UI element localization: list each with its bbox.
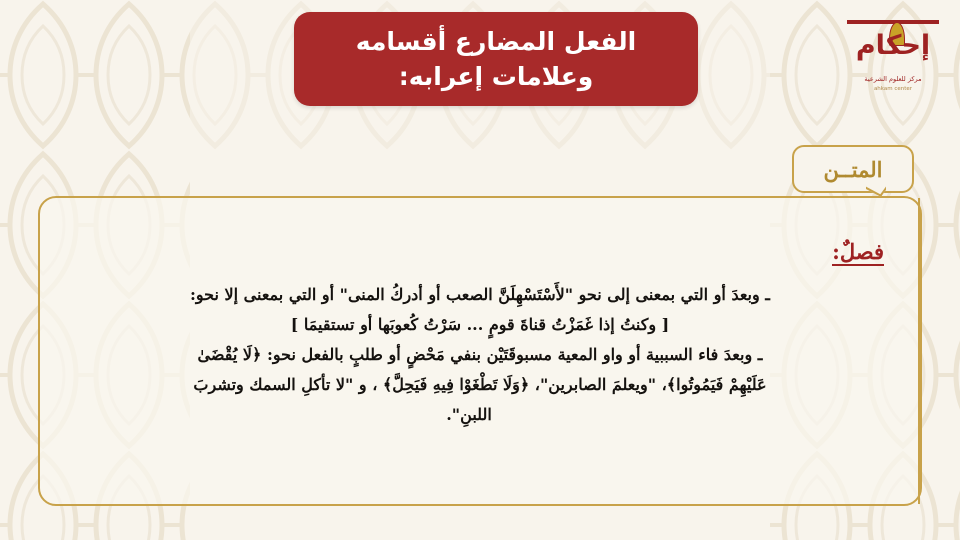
- content-line-4: عَلَيْهِمْ فَيَمُوتُوا﴾، "ويعلمَ الصابري…: [66, 370, 894, 400]
- brand-logo: إحكام مركز للعلوم الشرعية ahkam center: [840, 18, 946, 104]
- content-body: ـ وبعدَ أو التي بمعنى إلى نحو "لأَسْتَسْ…: [58, 280, 902, 430]
- logo-subtitle: مركز للعلوم الشرعية: [840, 75, 946, 85]
- title-line-1: الفعل المضارع أقسامه: [356, 24, 636, 60]
- title-line-2: وعلامات إعرابه:: [399, 59, 594, 95]
- card-right-edge: [918, 198, 920, 504]
- logo-subtitle-secondary: ahkam center: [840, 85, 946, 93]
- content-line-1: ـ وبعدَ أو التي بمعنى إلى نحو "لأَسْتَسْ…: [66, 280, 894, 310]
- content-line-2: [ وكنتُ إذا غَمَزْتُ قناةَ قومٍ ... سَرْ…: [66, 310, 894, 340]
- section-tab-matn: المتــن: [792, 145, 914, 193]
- section-tab-label: المتــن: [824, 157, 883, 182]
- logo-mark: إحكام: [843, 18, 943, 74]
- slide-title-banner: الفعل المضارع أقسامه وعلامات إعرابه:: [294, 12, 698, 106]
- section-tab-pointer: [866, 186, 886, 202]
- content-heading: فصلٌ:: [832, 240, 884, 266]
- logo-wordmark: إحكام: [843, 24, 943, 68]
- content-line-3: ـ وبعدَ فاء السببية أو واو المعية مسبوقَ…: [66, 340, 894, 370]
- slide-root: الفعل المضارع أقسامه وعلامات إعرابه: إحك…: [0, 0, 960, 540]
- content-card: فصلٌ: ـ وبعدَ أو التي بمعنى إلى نحو "لأَ…: [38, 196, 922, 506]
- content-line-5: اللبنِ".: [66, 400, 894, 430]
